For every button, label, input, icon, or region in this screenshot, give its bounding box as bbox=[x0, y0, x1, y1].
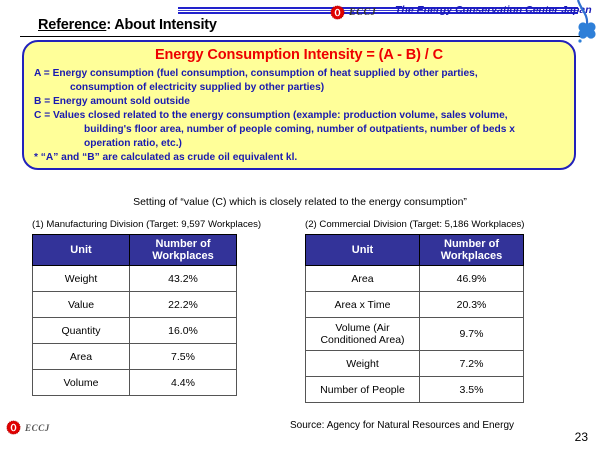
eccj-flame-logo-icon bbox=[6, 420, 21, 435]
column-header-workplaces: Number of Workplaces bbox=[130, 235, 237, 266]
definition-line-c2: building's floor area, number of people … bbox=[34, 123, 564, 137]
footer-brand-mark: ECCJ bbox=[6, 420, 50, 435]
definition-line-c1: C = Values closed related to the energy … bbox=[34, 109, 564, 123]
commercial-division-table: Unit Number of Workplaces Area 46.9% Are… bbox=[305, 234, 524, 403]
cell-unit: Area bbox=[306, 266, 420, 292]
table-row: Volume (Air Conditioned Area) 9.7% bbox=[306, 318, 524, 351]
page-number: 23 bbox=[575, 430, 588, 444]
table-row: Area 46.9% bbox=[306, 266, 524, 292]
definition-line-b: B = Energy amount sold outside bbox=[34, 95, 564, 109]
cell-unit: Volume bbox=[33, 370, 130, 396]
definition-callout-box: Energy Consumption Intensity = (A - B) /… bbox=[22, 40, 576, 170]
clover-icon-svg bbox=[572, 0, 600, 44]
definition-line-c3: operation ratio, etc.) bbox=[34, 137, 564, 151]
commercial-division-table-group: (2) Commercial Division (Target: 5,186 W… bbox=[305, 219, 524, 403]
table-row: Volume 4.4% bbox=[33, 370, 237, 396]
table-row: Area 7.5% bbox=[33, 344, 237, 370]
cell-value: 3.5% bbox=[420, 377, 524, 403]
cell-unit: Volume (Air Conditioned Area) bbox=[306, 318, 420, 351]
column-header-workplaces-line2: Workplaces bbox=[441, 250, 503, 262]
table-caption-commercial: (2) Commercial Division (Target: 5,186 W… bbox=[305, 219, 524, 230]
cell-value: 7.5% bbox=[130, 344, 237, 370]
source-note: Source: Agency for Natural Resources and… bbox=[290, 420, 514, 431]
cell-value: 20.3% bbox=[420, 292, 524, 318]
table-caption-manufacturing: (1) Manufacturing Division (Target: 9,59… bbox=[32, 219, 261, 230]
footer-brand-abbr: ECCJ bbox=[25, 423, 50, 433]
cell-value: 9.7% bbox=[420, 318, 524, 351]
eccj-flame-logo-icon bbox=[330, 5, 345, 20]
intensity-formula: Energy Consumption Intensity = (A - B) /… bbox=[24, 47, 574, 63]
column-header-workplaces: Number of Workplaces bbox=[420, 235, 524, 266]
definition-line-a2: consumption of electricity supplied by o… bbox=[34, 81, 564, 95]
cell-value: 22.2% bbox=[130, 292, 237, 318]
table-row: Weight 7.2% bbox=[306, 351, 524, 377]
brand-abbr: ECCJ bbox=[349, 7, 376, 18]
table-header-row: Unit Number of Workplaces bbox=[306, 235, 524, 266]
page-title: Reference: About Intensity bbox=[38, 17, 217, 33]
column-header-workplaces-line2: Workplaces bbox=[152, 250, 214, 262]
cell-value: 43.2% bbox=[130, 266, 237, 292]
page-title-prefix: Reference bbox=[38, 17, 106, 33]
table-row: Number of People 3.5% bbox=[306, 377, 524, 403]
cell-unit: Area x Time bbox=[306, 292, 420, 318]
page-title-rest: : About Intensity bbox=[106, 17, 216, 33]
definition-footnote: * “A” and “B” are calculated as crude oi… bbox=[34, 151, 564, 165]
table-row: Area x Time 20.3% bbox=[306, 292, 524, 318]
cell-unit: Quantity bbox=[33, 318, 130, 344]
manufacturing-division-table-group: (1) Manufacturing Division (Target: 9,59… bbox=[32, 219, 261, 396]
cell-value: 4.4% bbox=[130, 370, 237, 396]
column-header-workplaces-line1: Number of bbox=[156, 238, 211, 250]
cell-value: 46.9% bbox=[420, 266, 524, 292]
column-header-workplaces-line1: Number of bbox=[444, 238, 499, 250]
manufacturing-division-table: Unit Number of Workplaces Weight 43.2% V… bbox=[32, 234, 237, 396]
brand-mark: ECCJ bbox=[330, 4, 376, 20]
table-header-row: Unit Number of Workplaces bbox=[33, 235, 237, 266]
cell-unit: Number of People bbox=[306, 377, 420, 403]
table-row: Weight 43.2% bbox=[33, 266, 237, 292]
definition-line-a1: A = Energy consumption (fuel consumption… bbox=[34, 67, 564, 81]
table-row: Quantity 16.0% bbox=[33, 318, 237, 344]
clover-icon bbox=[572, 0, 600, 44]
column-header-unit: Unit bbox=[306, 235, 420, 266]
cell-unit: Area bbox=[33, 344, 130, 370]
cell-value: 7.2% bbox=[420, 351, 524, 377]
header-divider bbox=[20, 36, 580, 37]
cell-unit: Value bbox=[33, 292, 130, 318]
definition-text: A = Energy consumption (fuel consumption… bbox=[24, 63, 574, 165]
brand-tagline: The Energy Conservation Center Japan bbox=[395, 4, 592, 16]
cell-unit: Weight bbox=[306, 351, 420, 377]
table-row: Value 22.2% bbox=[33, 292, 237, 318]
cell-value: 16.0% bbox=[130, 318, 237, 344]
cell-unit: Weight bbox=[33, 266, 130, 292]
slide-header: Reference: About Intensity ECCJ The Ener… bbox=[0, 0, 600, 40]
column-header-unit: Unit bbox=[33, 235, 130, 266]
section-subtitle: Setting of “value (C) which is closely r… bbox=[0, 196, 600, 208]
